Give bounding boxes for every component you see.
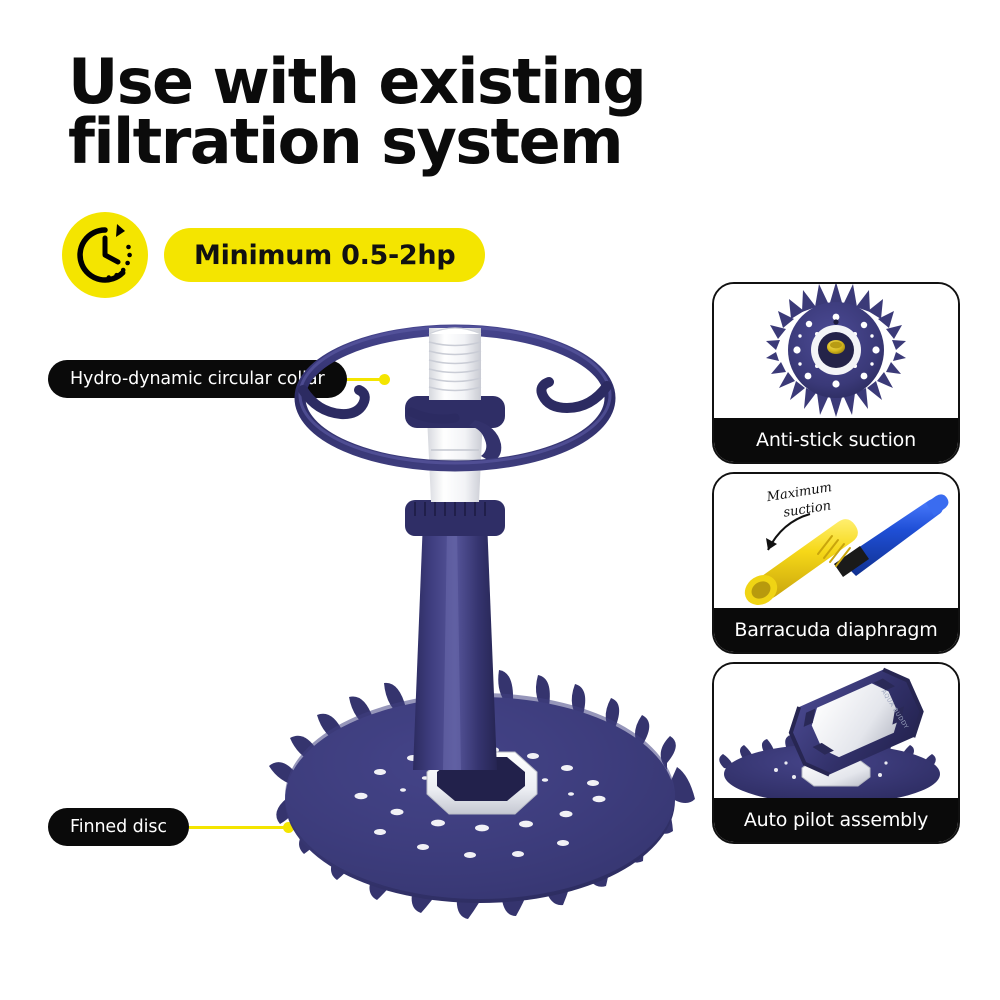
feature-card-auto-pilot-assembly[interactable]: AQUA BUDDY Auto pilot assembly [712,662,960,844]
auto-pilot-assembly-image: AQUA BUDDY [714,664,958,798]
finned-disc-top-view-image [714,284,958,418]
minimum-hp-badge-row: Minimum 0.5-2hp [62,212,485,298]
feature-card-caption: Barracuda diaphragm [714,608,958,652]
feature-card-barracuda-diaphragm[interactable]: Maximum suction Barracuda diaphragm [712,472,960,654]
feature-card-caption: Anti-stick suction [714,418,958,462]
cleaner-stem-graphic [427,416,483,502]
feature-card-anti-stick-suction[interactable]: Anti-stick suction [712,282,960,464]
callout-label: Finned disc [48,808,189,846]
diaphragm-image: Maximum suction [714,474,958,608]
pool-cleaner-product-image [175,320,735,920]
feature-cards-list: Anti-stick suction [712,282,960,852]
feature-card-caption: Auto pilot assembly [714,798,958,842]
page-title: Use with existing filtration system [68,52,688,172]
corrugated-hose-graphic [429,328,481,400]
infographic-page: Use with existing filtration system Mini [0,0,1000,1000]
minimum-hp-label: Minimum 0.5-2hp [194,240,455,271]
minimum-hp-pill: Minimum 0.5-2hp [164,228,485,282]
headline-line-2: filtration system [68,112,688,172]
clock-timer-icon [62,212,148,298]
cleaner-body-graphic [405,500,505,770]
